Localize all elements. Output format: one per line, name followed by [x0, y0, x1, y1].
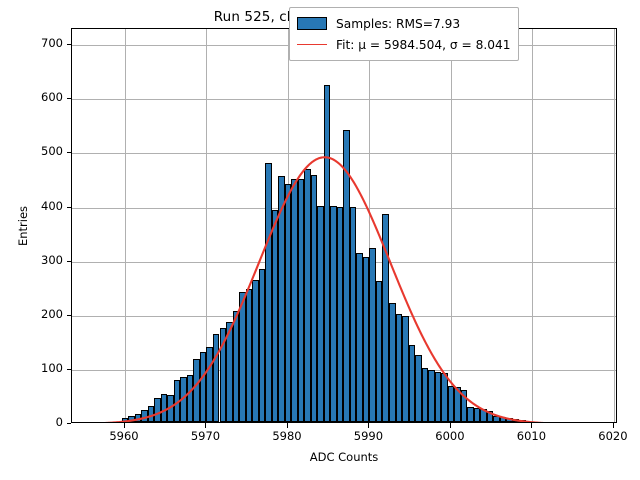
histogram-bar [513, 419, 520, 422]
x-tick-label: 5980 [272, 429, 301, 443]
legend-label-fit: Fit: μ = 5984.504, σ = 8.041 [336, 38, 510, 52]
y-tick-label: 500 [41, 144, 63, 158]
plot-area [72, 29, 616, 422]
x-tick-label: 6010 [517, 429, 546, 443]
y-tick-mark [67, 207, 72, 208]
x-tick-label: 6000 [435, 429, 464, 443]
histogram-bar [428, 370, 435, 422]
legend-label-samples: Samples: RMS=7.93 [336, 17, 460, 31]
x-axis-label: ADC Counts [71, 450, 617, 464]
x-tick-mark [205, 423, 206, 428]
legend-item-samples: Samples: RMS=7.93 [297, 13, 510, 34]
figure-canvas: Run 525, channel087, Pedestal Entries AD… [0, 0, 640, 480]
histogram-bar [350, 207, 357, 422]
x-tick-mark [287, 423, 288, 428]
y-tick-mark [67, 44, 72, 45]
x-tick-mark [531, 423, 532, 428]
y-tick-label: 200 [41, 307, 63, 321]
y-tick-mark [67, 423, 72, 424]
y-tick-mark [67, 98, 72, 99]
histogram-bar [519, 420, 526, 422]
histogram-bar [376, 281, 383, 422]
y-tick-mark [67, 369, 72, 370]
legend-swatch-fit-icon [297, 44, 327, 45]
y-tick-label: 700 [41, 36, 63, 50]
histogram-bar [324, 85, 331, 422]
x-tick-mark [124, 423, 125, 428]
x-tick-mark [450, 423, 451, 428]
chart-legend: Samples: RMS=7.93 Fit: μ = 5984.504, σ =… [289, 7, 519, 61]
histogram-bar [402, 316, 409, 422]
y-tick-label: 600 [41, 90, 63, 104]
legend-item-fit: Fit: μ = 5984.504, σ = 8.041 [297, 34, 510, 55]
gridline-horizontal [72, 99, 616, 100]
histogram-bar [135, 414, 142, 422]
x-tick-mark [368, 423, 369, 428]
histogram-bar [265, 163, 272, 422]
y-tick-mark [67, 152, 72, 153]
x-tick-label: 6020 [598, 429, 627, 443]
histogram-bar [161, 394, 168, 422]
y-tick-label: 400 [41, 199, 63, 213]
x-tick-label: 5970 [191, 429, 220, 443]
histogram-bar [480, 409, 487, 422]
gridline-vertical [125, 29, 126, 422]
histogram-bar [213, 334, 220, 422]
gridline-vertical [451, 29, 452, 422]
x-tick-label: 5990 [354, 429, 383, 443]
plot-axes [71, 28, 617, 423]
histogram-bar [454, 387, 461, 422]
y-tick-label: 300 [41, 253, 63, 267]
y-tick-mark [67, 315, 72, 316]
x-tick-label: 5960 [109, 429, 138, 443]
y-tick-label: 0 [56, 415, 63, 429]
gridline-vertical [532, 29, 533, 422]
gridline-vertical [614, 29, 615, 422]
y-tick-mark [67, 261, 72, 262]
histogram-bar [239, 292, 246, 422]
y-tick-label: 100 [41, 361, 63, 375]
legend-swatch-samples-icon [297, 17, 327, 30]
x-tick-mark [613, 423, 614, 428]
histogram-bar [187, 375, 194, 422]
y-axis-label: Entries [14, 28, 32, 423]
histogram-bar [298, 179, 305, 422]
